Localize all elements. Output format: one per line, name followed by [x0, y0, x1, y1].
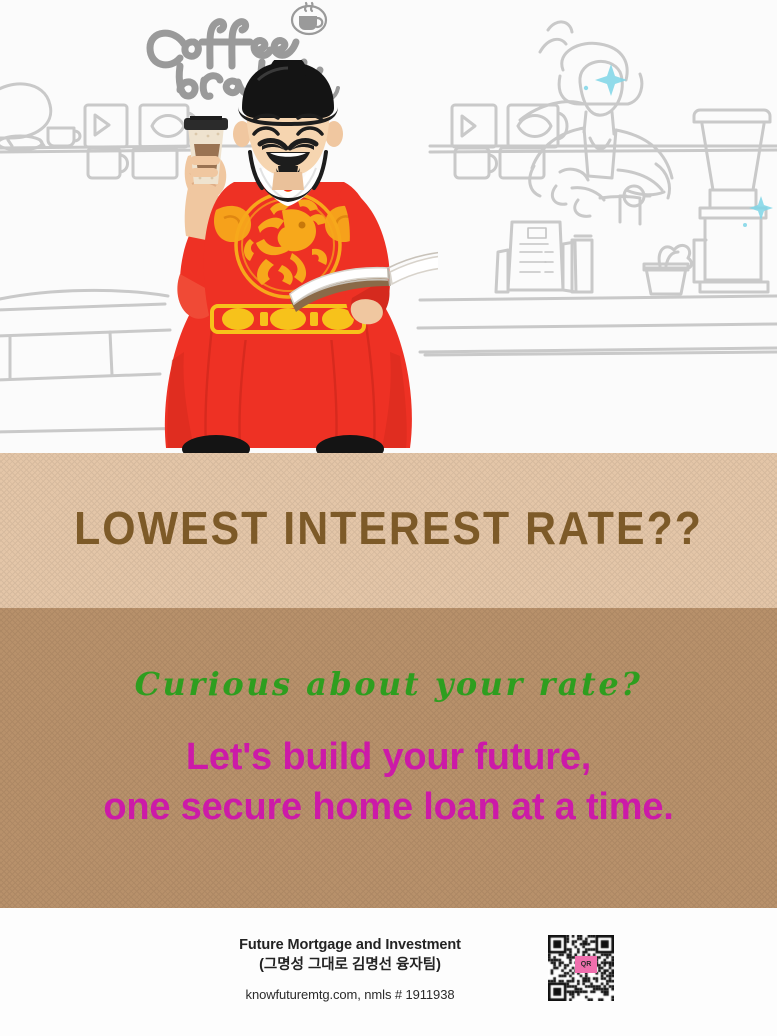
- qr-center-logo: QR: [575, 956, 597, 973]
- footer-info: Future Mortgage and Investment (그명성 그대로 …: [140, 936, 560, 1002]
- website-and-nmls[interactable]: knowfuturemtg.com, nmls # 1911938: [140, 987, 560, 1002]
- curious-question: Curious about your rate?: [0, 668, 777, 700]
- company-name: Future Mortgage and Investment: [140, 936, 560, 956]
- qr-center-label: QR: [581, 961, 592, 968]
- company-name-korean: (그명성 그대로 김명선 융자팀): [140, 956, 560, 976]
- cafe-illustration: [0, 0, 777, 455]
- page-title: LOWEST INTEREST RATE??: [27, 505, 750, 551]
- korean-king-character: [138, 60, 438, 455]
- tagline-line-2: one secure home loan at a time.: [0, 788, 777, 826]
- tagline-line-1: Let's build your future,: [0, 738, 777, 776]
- poster: LOWEST INTEREST RATE?? Curious about you…: [0, 0, 777, 1036]
